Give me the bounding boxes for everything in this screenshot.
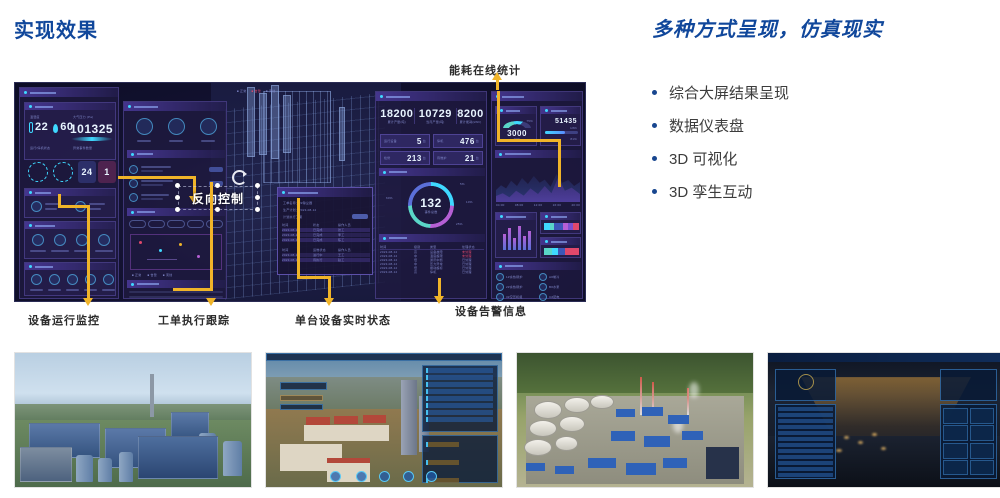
sub-panel-aux-devices	[24, 262, 116, 296]
kpi-energy: 8200 累计能耗(kWh)	[457, 108, 483, 124]
dashboard-screenshot: 温湿度 大气压力 (Pa) 22 60 101325 运行/停机状态 异常事件数…	[14, 82, 586, 302]
bullet-dot-icon	[652, 156, 657, 161]
list-item: 数据仪表盘	[652, 111, 982, 139]
scene-toolbar-icon[interactable]	[403, 471, 414, 482]
anno-arrow-2-head	[206, 298, 216, 306]
alarm-icon	[129, 165, 138, 174]
scene-toolbar-icon[interactable]	[356, 471, 367, 482]
table-header: 时间状态操作人员	[282, 223, 370, 227]
sub-panel-heatmap-1	[540, 212, 581, 234]
device-icon[interactable]	[98, 234, 110, 246]
bullet-label: 数据仪表盘	[669, 115, 744, 136]
anno-arrow-reverse-1	[118, 176, 196, 179]
device-icon	[496, 293, 504, 301]
progress-track	[545, 131, 578, 134]
anno-arrow-3-head	[324, 298, 334, 306]
device-icon[interactable]	[32, 234, 44, 246]
stat-cards: 运行设备 5 台 停机 476 台 检修 213 台	[380, 134, 484, 165]
stat-card[interactable]: 待维护 21 台	[433, 151, 483, 165]
table-header: 时间运维状态操作人员	[282, 248, 370, 252]
slide-root: 实现效果 多种方式呈现，仿真现实 综合大屏结果呈现 数据仪表盘 3D 可视化 3…	[0, 0, 1000, 498]
overlay-panel-top-right[interactable]	[940, 369, 997, 401]
overlay-panel-camera-grid[interactable]	[940, 404, 997, 479]
bar-chart	[502, 224, 534, 250]
sub-panel-energy-bars	[495, 212, 537, 258]
alarm-count-card: 24	[78, 161, 96, 183]
overlay-panel-top-left[interactable]	[775, 369, 836, 401]
detail-button[interactable]	[352, 214, 368, 219]
device-icon[interactable]	[31, 274, 42, 285]
floor-tabs[interactable]	[129, 220, 223, 230]
status-badge	[209, 167, 223, 172]
bullet-label: 3D 可视化	[669, 148, 737, 169]
table-work-order: 时间状态操作人员 2023-08-12已完成张工 2023-08-12已完成李工…	[282, 223, 370, 242]
overlay-panel-left-list[interactable]	[775, 404, 836, 479]
anno-arrow-1-b	[58, 205, 90, 208]
anno-arrow-energy-h	[497, 139, 561, 142]
temperature-value: 22	[35, 122, 48, 133]
device-icon[interactable]	[54, 234, 66, 246]
device-icon[interactable]	[31, 201, 42, 212]
resize-handle-s[interactable]	[215, 207, 220, 212]
list-item[interactable]: 1#余热锅炉	[496, 273, 537, 281]
resize-handle-w[interactable]	[175, 195, 180, 200]
bullet-label: 综合大屏结果呈现	[669, 82, 789, 103]
rotate-handle-icon[interactable]	[232, 170, 247, 185]
anno-arrow-energy-top-head	[492, 72, 502, 80]
humidity-drop-icon	[53, 124, 58, 133]
anno-arrow-3-c	[328, 276, 331, 300]
gauge-operation-rate	[28, 162, 48, 182]
list-item[interactable]: 2#余热锅炉	[496, 283, 537, 291]
list-item[interactable]: A#制冷	[539, 273, 578, 281]
progress-fill	[545, 131, 565, 134]
dashboard-legend: ■ 正常■ 告警■ 离线	[237, 89, 275, 93]
kpi-row: 18200 累计产量(吨) 10729 当月产量(吨) 8200 累计能耗(kW…	[380, 108, 484, 124]
panel-energy-analysis[interactable]: 3000 kWh 75% 51435 kWh 81%	[491, 91, 583, 299]
resize-handle-se[interactable]	[255, 207, 260, 212]
gallery-image-4[interactable]	[767, 352, 1000, 488]
device-icon	[496, 283, 504, 291]
bullet-dot-icon	[652, 90, 657, 95]
anno-arrow-1-head	[83, 298, 93, 306]
resize-handle-n[interactable]	[215, 183, 220, 188]
anno-arrow-4-head	[434, 296, 444, 304]
anno-label-1: 设备运行监控	[28, 312, 100, 328]
device-check-icon[interactable]	[200, 118, 217, 135]
sub-panel-environment: 温湿度 大气压力 (Pa) 22 60 101325 运行/停机状态 异常事件数…	[24, 102, 116, 160]
list-item: 综合大屏结果呈现	[652, 78, 982, 106]
heatmap-bar	[544, 248, 579, 255]
exception-count-card: 1	[98, 161, 116, 183]
list-item[interactable]: 3#空压机组	[496, 293, 537, 301]
device-icon[interactable]	[67, 274, 78, 285]
anno-arrow-energy-v	[497, 91, 500, 139]
table-row[interactable]: 2023-08-12已完成张工	[282, 228, 370, 232]
alarm-icon	[129, 179, 138, 188]
stat-card[interactable]: 停机 476 台	[433, 134, 483, 148]
device-icon[interactable]	[49, 274, 60, 285]
list-item: 3D 孪生互动	[652, 177, 982, 205]
heatmap-bar	[544, 223, 579, 230]
device-icon	[539, 283, 547, 291]
resize-handle-e[interactable]	[255, 195, 260, 200]
list-item[interactable]: C#配电	[539, 293, 578, 301]
gauge-integrity-rate	[53, 162, 73, 182]
anno-label-2: 工单执行跟踪	[158, 312, 230, 328]
feature-bullet-list: 综合大屏结果呈现 数据仪表盘 3D 可视化 3D 孪生互动	[652, 78, 982, 210]
pressure-value: 101325	[70, 122, 113, 136]
table-row[interactable]: 2023-08-12已完成李工	[282, 233, 370, 237]
gallery-image-1[interactable]	[14, 352, 252, 488]
anno-label-energy-online: 能耗在线统计	[449, 62, 521, 78]
list-item[interactable]: B#水泵	[539, 283, 578, 291]
inspection-icon[interactable]	[168, 118, 185, 135]
stat-card[interactable]: 检修 213 台	[380, 151, 430, 165]
chart-energy-trend	[496, 162, 580, 202]
anno-arrow-3-a	[297, 198, 300, 279]
panel-operation-summary[interactable]: 18200 累计产量(吨) 10729 当月产量(吨) 8200 累计能耗(kW…	[375, 91, 487, 299]
ops-info-table	[129, 291, 223, 298]
device-icon[interactable]	[103, 274, 114, 285]
page-title-right: 多种方式呈现，仿真现实	[652, 13, 883, 42]
textbox-label: 反向控制	[192, 190, 244, 207]
list-item[interactable]	[129, 162, 223, 176]
bullet-label: 3D 孪生互动	[669, 181, 752, 202]
panel-device-monitor[interactable]: 温湿度 大气压力 (Pa) 22 60 101325 运行/停机状态 异常事件数…	[19, 87, 119, 299]
status-dot-icon	[24, 91, 27, 94]
scene-topbar[interactable]	[768, 353, 1000, 362]
donut-center-label: 132 事件总数	[408, 196, 454, 214]
energy-device-list: 1#余热锅炉 A#制冷 2#余热锅炉 B#水泵	[496, 273, 580, 301]
anno-arrow-3-b	[297, 276, 331, 279]
table-row[interactable]: 2023-08-12待执行赵工	[282, 258, 370, 262]
kpi-month-output: 10729 当月产量(吨)	[414, 108, 457, 124]
pressure-glow	[71, 137, 113, 141]
thermometer-icon	[29, 122, 33, 133]
anno-arrow-1-c	[87, 205, 90, 300]
table-work-order-2: 时间运维状态操作人员 2023-08-12进行中王工 2023-08-12待执行…	[282, 248, 370, 262]
gallery-image-3[interactable]	[516, 352, 754, 488]
gallery-image-2[interactable]	[265, 352, 503, 488]
device-icon	[496, 273, 504, 281]
sub-panel-heatmap-2	[540, 237, 581, 258]
table-alarm: 时间级别类型处理状态 2023-08-12高设备故障未处理 2023-08-12…	[380, 245, 484, 274]
anno-label-4: 设备告警信息	[455, 303, 527, 319]
anno-arrow-energy-v2	[558, 139, 561, 187]
resize-handle-nw[interactable]	[175, 183, 180, 188]
dialog-work-order-detail[interactable]: 工单名称：2#除尘器 生产计划：2023-08-12 计划执行工期 时间状态操作…	[277, 187, 373, 275]
overlay-panel-right[interactable]	[422, 365, 498, 432]
bullet-dot-icon	[652, 189, 657, 194]
panel-header	[20, 88, 118, 97]
table-row[interactable]: 2023-08-12进行中王工	[282, 253, 370, 257]
sub-panel-common-devices	[24, 188, 116, 218]
page-title-left: 实现效果	[14, 14, 98, 43]
anno-arrow-2-b	[210, 182, 213, 291]
work-order-icon[interactable]	[136, 118, 153, 135]
stat-card[interactable]: 运行设备 5 台	[380, 134, 430, 148]
anno-label-3: 单台设备实时状态	[295, 312, 391, 328]
alarm-icon	[129, 193, 138, 202]
bullet-dot-icon	[652, 123, 657, 128]
anno-arrow-2-a	[173, 288, 213, 291]
scene-toolbar-icon[interactable]	[330, 471, 341, 482]
resize-handle-ne[interactable]	[255, 183, 260, 188]
device-distribution-map[interactable]	[130, 234, 222, 270]
device-icon	[539, 273, 547, 281]
axis-x-labels: 04:0008:0012:0016:0020:00	[496, 203, 580, 207]
kpi-total-output: 18200 累计产量(吨)	[380, 108, 413, 124]
resize-handle-sw[interactable]	[175, 207, 180, 212]
map-legend: ■ 正常■ 告警■ 离线	[132, 273, 172, 277]
device-icon	[539, 293, 547, 301]
sub-panel-key-devices	[24, 221, 116, 259]
list-item: 3D 可视化	[652, 144, 982, 172]
table-row[interactable]: 2023-08-12已完成陈工	[282, 238, 370, 242]
table-row[interactable]: 2023-08-12高停机已处理	[380, 270, 484, 274]
